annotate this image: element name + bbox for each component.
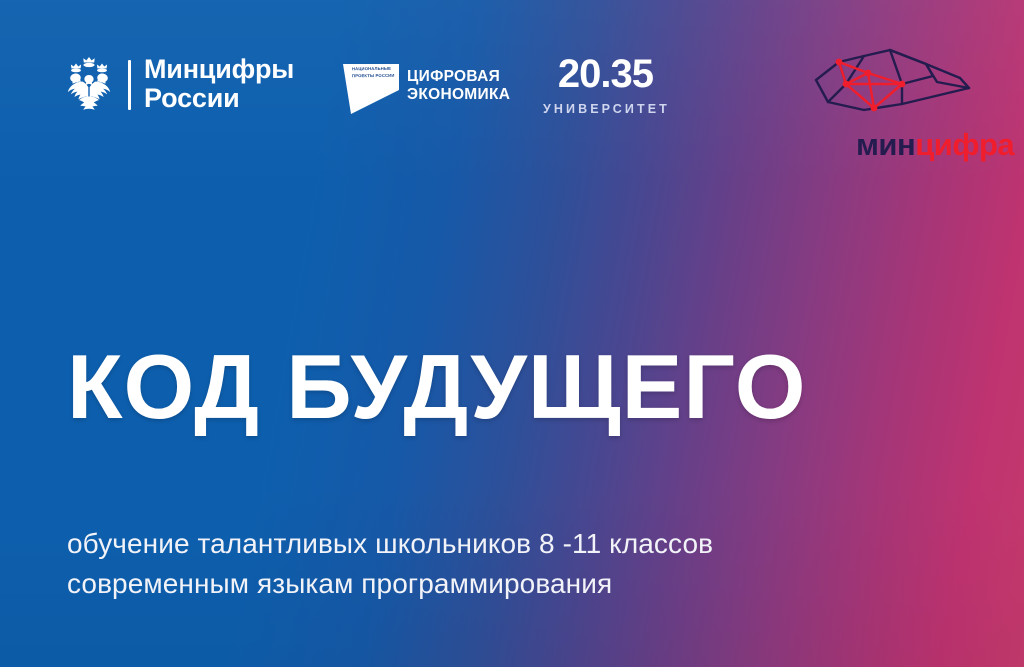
cifrovaya-ekonomika-line2: ЭКОНОМИКА xyxy=(407,86,510,104)
banner-subtitle: обучение талантливых школьников 8 -11 кл… xyxy=(67,524,713,604)
logo-mincifry-line2: России xyxy=(144,84,294,113)
university-2035-number: 20.35 xyxy=(541,54,670,94)
logo-divider xyxy=(128,60,131,110)
cifrovaya-ekonomika-line1: ЦИФРОВАЯ xyxy=(407,68,510,86)
mincifra-word-part2: цифра xyxy=(915,127,1014,162)
logo-mincifry-rossii-words: Минцифры России xyxy=(144,55,294,112)
logo-strip: Минцифры России НАЦИОНАЛЬНЫЕ ПРОЕКТЫ РОС… xyxy=(0,44,1024,164)
mincifra-wordmark: минцифра xyxy=(856,129,1014,160)
logo-mincifry-line1: Минцифры xyxy=(144,55,294,84)
logo-cifrovaya-ekonomika: НАЦИОНАЛЬНЫЕ ПРОЕКТЫ РОССИИ ЦИФРОВАЯ ЭКО… xyxy=(333,52,513,122)
university-2035-caption: УНИВЕРСИТЕТ xyxy=(543,103,670,116)
mincifra-word-part1: мин xyxy=(856,127,915,162)
banner-subtitle-line-1: обучение талантливых школьников 8 -11 кл… xyxy=(67,524,713,564)
logo-mincifry-rossii: Минцифры России xyxy=(62,54,294,114)
russian-coat-of-arms-icon xyxy=(62,54,116,114)
national-projects-flag-label: НАЦИОНАЛЬНЫЕ ПРОЕКТЫ РОССИИ xyxy=(352,66,398,79)
promo-banner: Минцифры России НАЦИОНАЛЬНЫЕ ПРОЕКТЫ РОС… xyxy=(0,0,1024,667)
network-constellation-icon xyxy=(806,36,996,126)
banner-subtitle-line-2: современным языкам программирования xyxy=(67,564,713,604)
banner-headline: КОД БУДУЩЕГО xyxy=(67,342,807,433)
cifrovaya-ekonomika-words: ЦИФРОВАЯ ЭКОНОМИКА xyxy=(407,68,510,105)
logo-mincifra: минцифра xyxy=(806,36,1006,176)
logo-university-2035: 20.35 УНИВЕРСИТЕТ xyxy=(541,54,670,116)
